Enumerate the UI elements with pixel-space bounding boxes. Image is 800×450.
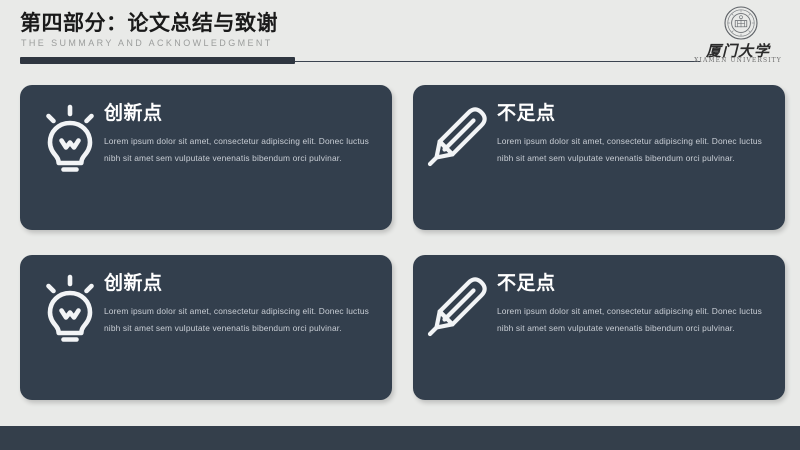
card-title: 创新点 xyxy=(104,273,380,294)
card-shortcoming-bottom[interactable]: 不足点 Lorem ipsum dolor sit amet, consecte… xyxy=(413,255,785,400)
card-innovation-bottom[interactable]: 创新点 Lorem ipsum dolor sit amet, consecte… xyxy=(20,255,392,400)
university-name-en: XIAMEN UNIVERSITY xyxy=(690,57,786,64)
university-seal-icon xyxy=(724,6,758,40)
lightbulb-icon xyxy=(34,269,106,349)
slide-header: 第四部分：论文总结与致谢 THE SUMMARY AND ACKNOWLEDGM… xyxy=(0,0,800,72)
card-innovation-top[interactable]: 创新点 Lorem ipsum dolor sit amet, consecte… xyxy=(20,85,392,230)
card-title: 不足点 xyxy=(497,103,773,124)
card-body: 创新点 Lorem ipsum dolor sit amet, consecte… xyxy=(104,273,380,337)
pencil-icon xyxy=(427,99,499,179)
card-grid: 创新点 Lorem ipsum dolor sit amet, consecte… xyxy=(20,85,785,398)
card-title: 创新点 xyxy=(104,103,380,124)
card-title: 不足点 xyxy=(497,273,773,294)
footer-bar xyxy=(0,426,800,450)
card-body: 不足点 Lorem ipsum dolor sit amet, consecte… xyxy=(497,273,773,337)
page-subtitle: THE SUMMARY AND ACKNOWLEDGMENT xyxy=(21,38,273,48)
slide-canvas: 第四部分：论文总结与致谢 THE SUMMARY AND ACKNOWLEDGM… xyxy=(0,0,800,450)
header-rule-thick xyxy=(20,57,295,64)
lightbulb-icon xyxy=(34,99,106,179)
card-body: 不足点 Lorem ipsum dolor sit amet, consecte… xyxy=(497,103,773,167)
page-title: 第四部分：论文总结与致谢 xyxy=(20,7,278,37)
card-text: Lorem ipsum dolor sit amet, consectetur … xyxy=(104,133,380,167)
card-text: Lorem ipsum dolor sit amet, consectetur … xyxy=(497,303,773,337)
pencil-icon xyxy=(427,269,499,349)
university-logo: 厦门大学 XIAMEN UNIVERSITY xyxy=(690,4,786,66)
card-body: 创新点 Lorem ipsum dolor sit amet, consecte… xyxy=(104,103,380,167)
card-shortcoming-top[interactable]: 不足点 Lorem ipsum dolor sit amet, consecte… xyxy=(413,85,785,230)
card-text: Lorem ipsum dolor sit amet, consectetur … xyxy=(497,133,773,167)
card-text: Lorem ipsum dolor sit amet, consectetur … xyxy=(104,303,380,337)
